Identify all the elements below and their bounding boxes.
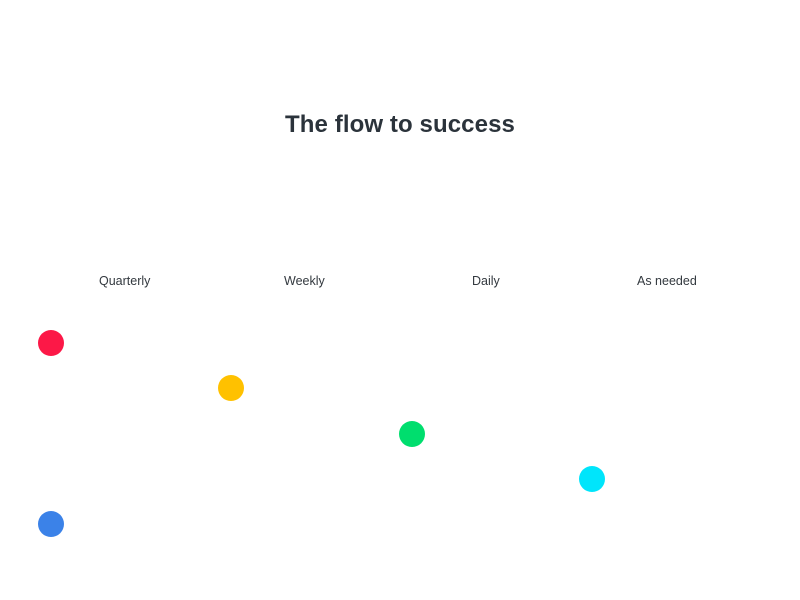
scatter-point [579,466,605,492]
scatter-point [38,330,64,356]
category-label: Quarterly [99,274,150,289]
scatter-point [38,511,64,537]
category-label: Daily [472,274,500,289]
category-label: Weekly [284,274,325,289]
scatter-point [218,375,244,401]
chart-canvas: The flow to success QuarterlyWeeklyDaily… [0,0,800,600]
scatter-point [399,421,425,447]
category-label: As needed [637,274,697,289]
page-title: The flow to success [0,111,800,139]
